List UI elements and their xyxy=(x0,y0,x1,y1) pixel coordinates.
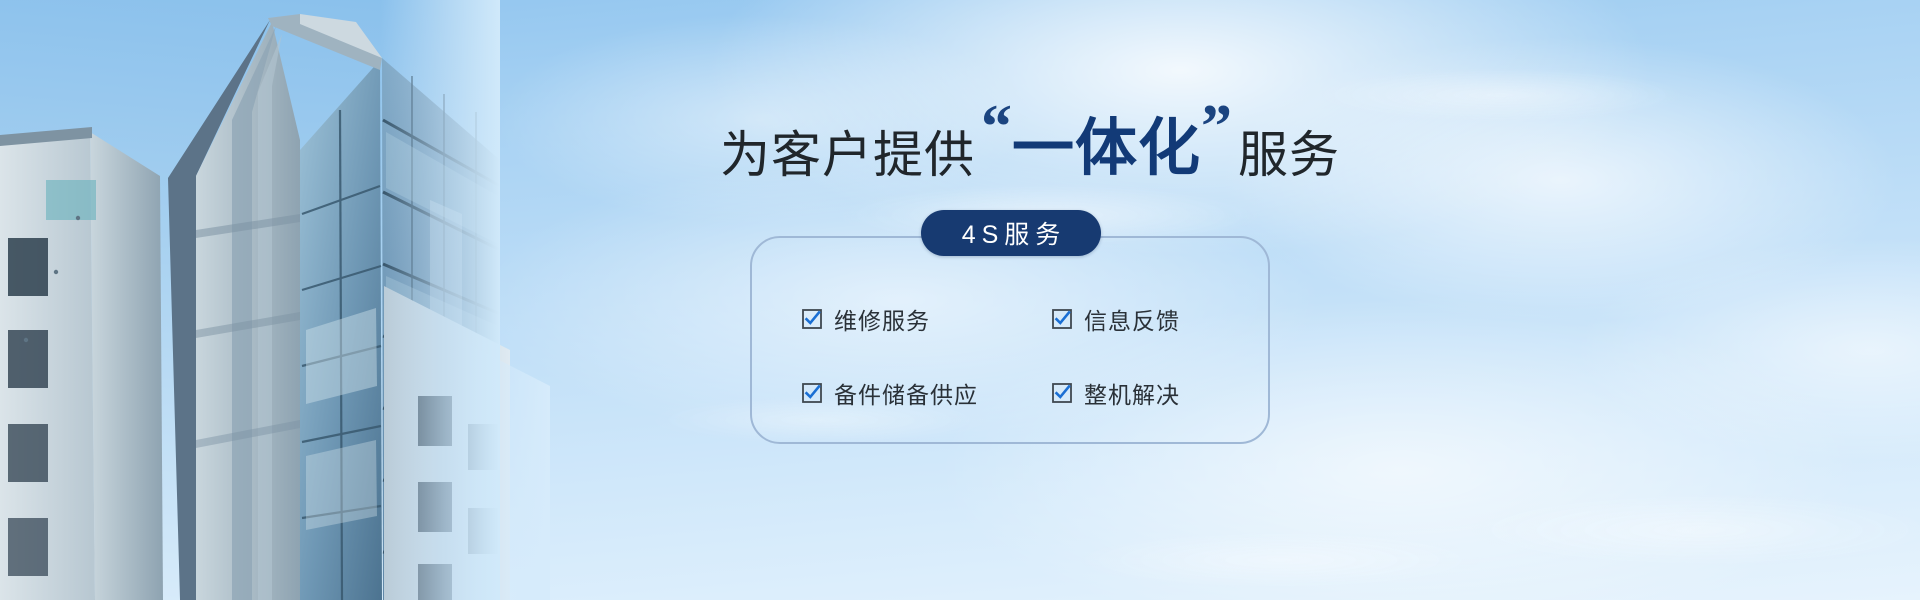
service-item-whole-machine[interactable]: 整机解决 xyxy=(1010,356,1270,430)
service-item-repair[interactable]: 维修服务 xyxy=(750,282,1010,356)
building-photo xyxy=(0,0,500,600)
quote-open-mark: “ xyxy=(981,96,1012,158)
photo-edge-fade xyxy=(380,0,500,600)
service-badge-label: 4S服务 xyxy=(956,215,1067,251)
checkbox-checked-icon[interactable] xyxy=(802,383,822,403)
service-item-spare-parts[interactable]: 备件储备供应 xyxy=(750,356,1010,430)
service-item-label: 维修服务 xyxy=(834,302,930,336)
service-item-feedback[interactable]: 信息反馈 xyxy=(1010,282,1270,356)
checkbox-checked-icon[interactable] xyxy=(1052,383,1072,403)
headline-prefix: 为客户提供 xyxy=(720,130,975,180)
checkbox-checked-icon[interactable] xyxy=(802,309,822,329)
checkbox-checked-icon[interactable] xyxy=(1052,309,1072,329)
service-item-label: 备件储备供应 xyxy=(834,376,978,410)
service-item-label: 整机解决 xyxy=(1084,376,1180,410)
service-badge: 4S服务 xyxy=(921,210,1101,256)
headline: 为客户提供 “ 一体化 ” 服务 xyxy=(700,104,1340,180)
headline-suffix: 服务 xyxy=(1238,130,1340,180)
quote-close-mark: ” xyxy=(1201,96,1232,158)
service-item-label: 信息反馈 xyxy=(1084,302,1180,336)
service-banner: 为客户提供 “ 一体化 ” 服务 4S服务 维修服务 xyxy=(0,0,1920,600)
headline-accent: 一体化 xyxy=(1012,118,1201,180)
service-list: 维修服务 信息反馈 备件储备供应 xyxy=(750,236,1270,444)
